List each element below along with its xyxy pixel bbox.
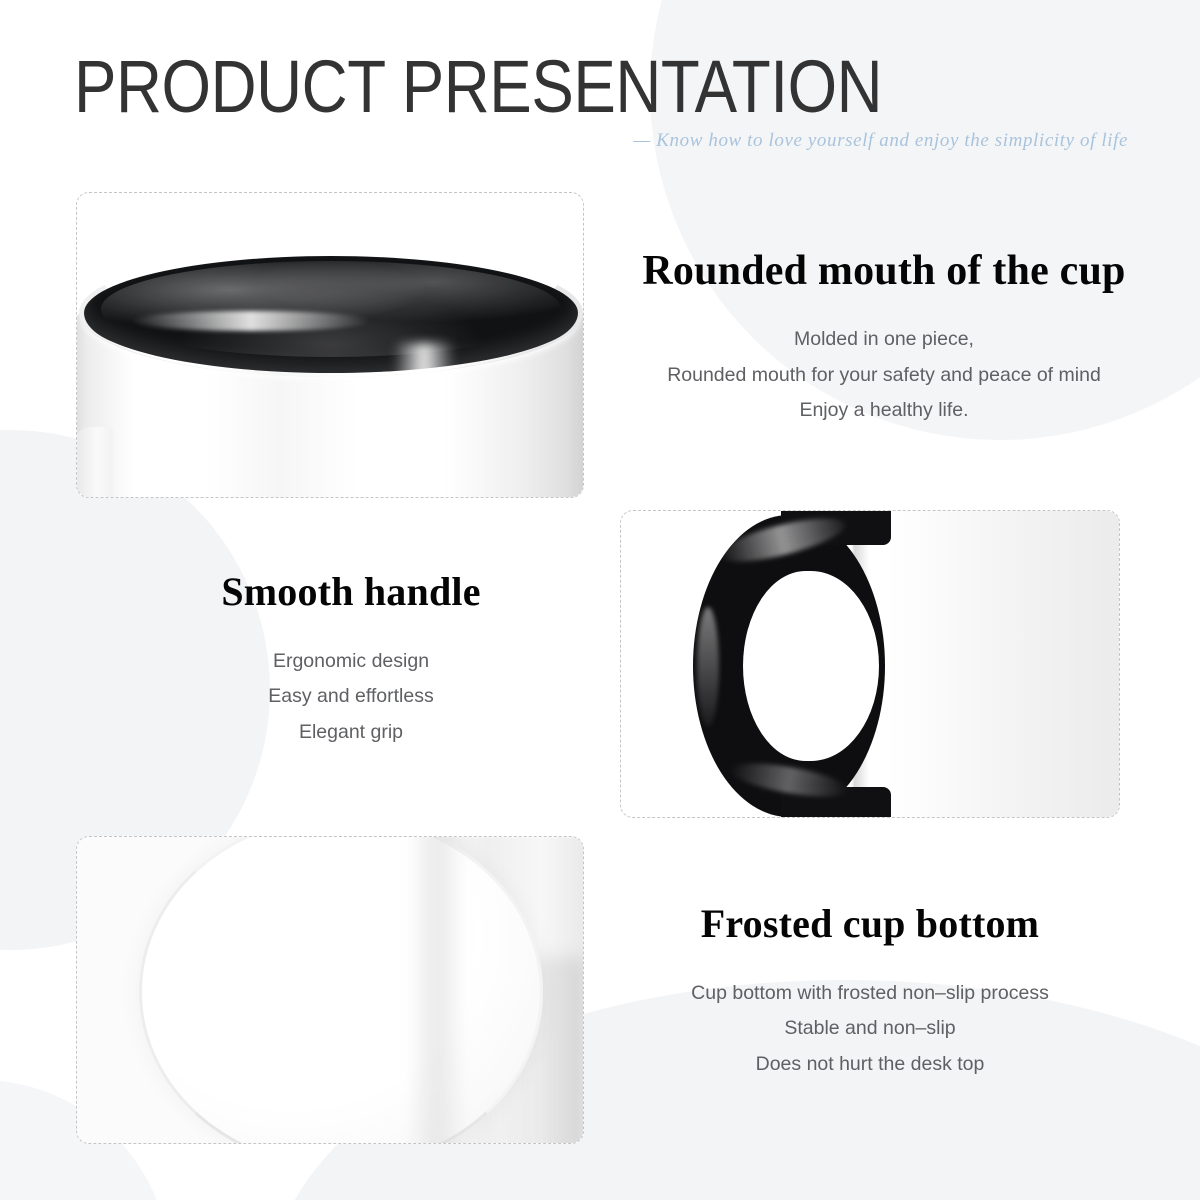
mug-bottom-rim [139,836,543,1144]
mug-body-sheen [393,343,455,498]
page-subtitle: — Know how to love yourself and enjoy th… [633,130,1128,152]
section-body-frosted-bottom: Cup bottom with frosted non–slip process… [620,976,1120,1082]
section-body-smooth-handle: Ergonomic design Easy and effortless Ele… [168,644,534,750]
mug-handle-illustration [621,511,1119,817]
section-line: Enjoy a healthy life. [600,393,1168,428]
section-line: Elegant grip [168,715,534,750]
section-body-rounded-mouth: Molded in one piece, Rounded mouth for y… [600,322,1168,428]
product-photo-smooth-handle [620,510,1120,818]
section-heading-smooth-handle: Smooth handle [168,570,534,614]
section-line: Rounded mouth for your safety and peace … [600,358,1168,393]
section-text-frosted-bottom: Frosted cup bottom Cup bottom with frost… [620,902,1120,1082]
mug-handle-gloss-left [697,607,719,727]
section-line: Easy and effortless [168,679,534,714]
section-line: Cup bottom with frosted non–slip process [620,976,1120,1011]
mug-bottom-shadow [407,836,467,1144]
product-photo-frosted-bottom [76,836,584,1144]
product-presentation-page: PRODUCT PRESENTATION — Know how to love … [0,0,1200,1200]
mug-handle-aperture [743,571,879,761]
page-title: PRODUCT PRESENTATION [74,50,882,124]
mug-body-white [857,510,1120,818]
section-text-smooth-handle: Smooth handle Ergonomic design Easy and … [168,570,534,750]
mug-rim-illustration [77,193,583,497]
section-heading-rounded-mouth: Rounded mouth of the cup [600,248,1168,294]
page-header: PRODUCT PRESENTATION — Know how to love … [0,0,1200,175]
section-line: Molded in one piece, [600,322,1168,357]
mug-bottom-illustration [77,837,583,1143]
mug-lip-shine [131,311,371,331]
section-line: Ergonomic design [168,644,534,679]
section-text-rounded-mouth: Rounded mouth of the cup Molded in one p… [600,248,1168,429]
product-photo-rounded-mouth [76,192,584,498]
section-line: Does not hurt the desk top [620,1047,1120,1082]
section-heading-frosted-bottom: Frosted cup bottom [620,902,1120,946]
section-line: Stable and non–slip [620,1011,1120,1046]
mug-handle-stub [76,427,113,498]
